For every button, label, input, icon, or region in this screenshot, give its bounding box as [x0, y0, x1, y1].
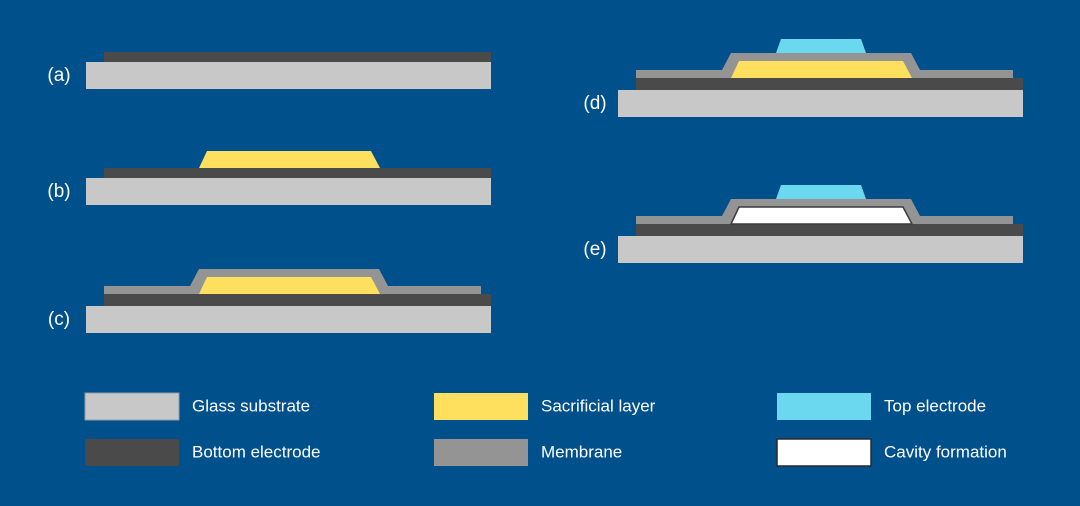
panel-a-glass-substrate [86, 62, 491, 89]
panel-c-bottom-electrode [104, 294, 491, 306]
top-electrode-swatch [777, 393, 871, 420]
panel-c-label: (c) [48, 309, 70, 330]
panel-b-label: (b) [47, 181, 70, 202]
bottom-electrode-swatch [85, 439, 179, 466]
panel-e-top-electrode [776, 185, 866, 199]
legend-label-top-electrode: Top electrode [884, 396, 986, 415]
glass-substrate-swatch [85, 393, 179, 420]
panel-c-sacrificial-layer [199, 277, 380, 294]
panel-d-glass-substrate [618, 90, 1023, 117]
panel-d-bottom-electrode [636, 78, 1023, 90]
legend-label-cavity-formation: Cavity formation [884, 442, 1007, 461]
panel-e-label: (e) [583, 239, 606, 260]
sacrificial-layer-swatch [434, 393, 528, 420]
process-flow-figure: (a) (b) (c) (d) (e) [0, 0, 1080, 506]
panel-e-bottom-electrode [636, 224, 1023, 236]
panel-e-glass-substrate [618, 236, 1023, 263]
legend-label-sacrificial-layer: Sacrificial layer [541, 396, 656, 415]
legend-label-membrane: Membrane [541, 442, 622, 461]
membrane-swatch [434, 439, 528, 466]
legend-label-bottom-electrode: Bottom electrode [192, 442, 321, 461]
panel-a-bottom-electrode [104, 52, 491, 62]
panel-a-label: (a) [47, 65, 70, 86]
panel-a: (a) [47, 52, 491, 89]
panel-b-sacrificial-layer [199, 151, 380, 168]
cavity-formation-swatch [777, 439, 871, 466]
panel-d-sacrificial-layer [731, 61, 912, 78]
legend-label-glass-substrate: Glass substrate [192, 396, 310, 415]
panel-b-bottom-electrode [104, 168, 491, 178]
panel-d-top-electrode [776, 39, 866, 53]
panel-d-label: (d) [583, 93, 606, 114]
panel-c-glass-substrate [86, 306, 491, 333]
panel-e-cavity [731, 207, 912, 224]
panel-b-glass-substrate [86, 178, 491, 205]
